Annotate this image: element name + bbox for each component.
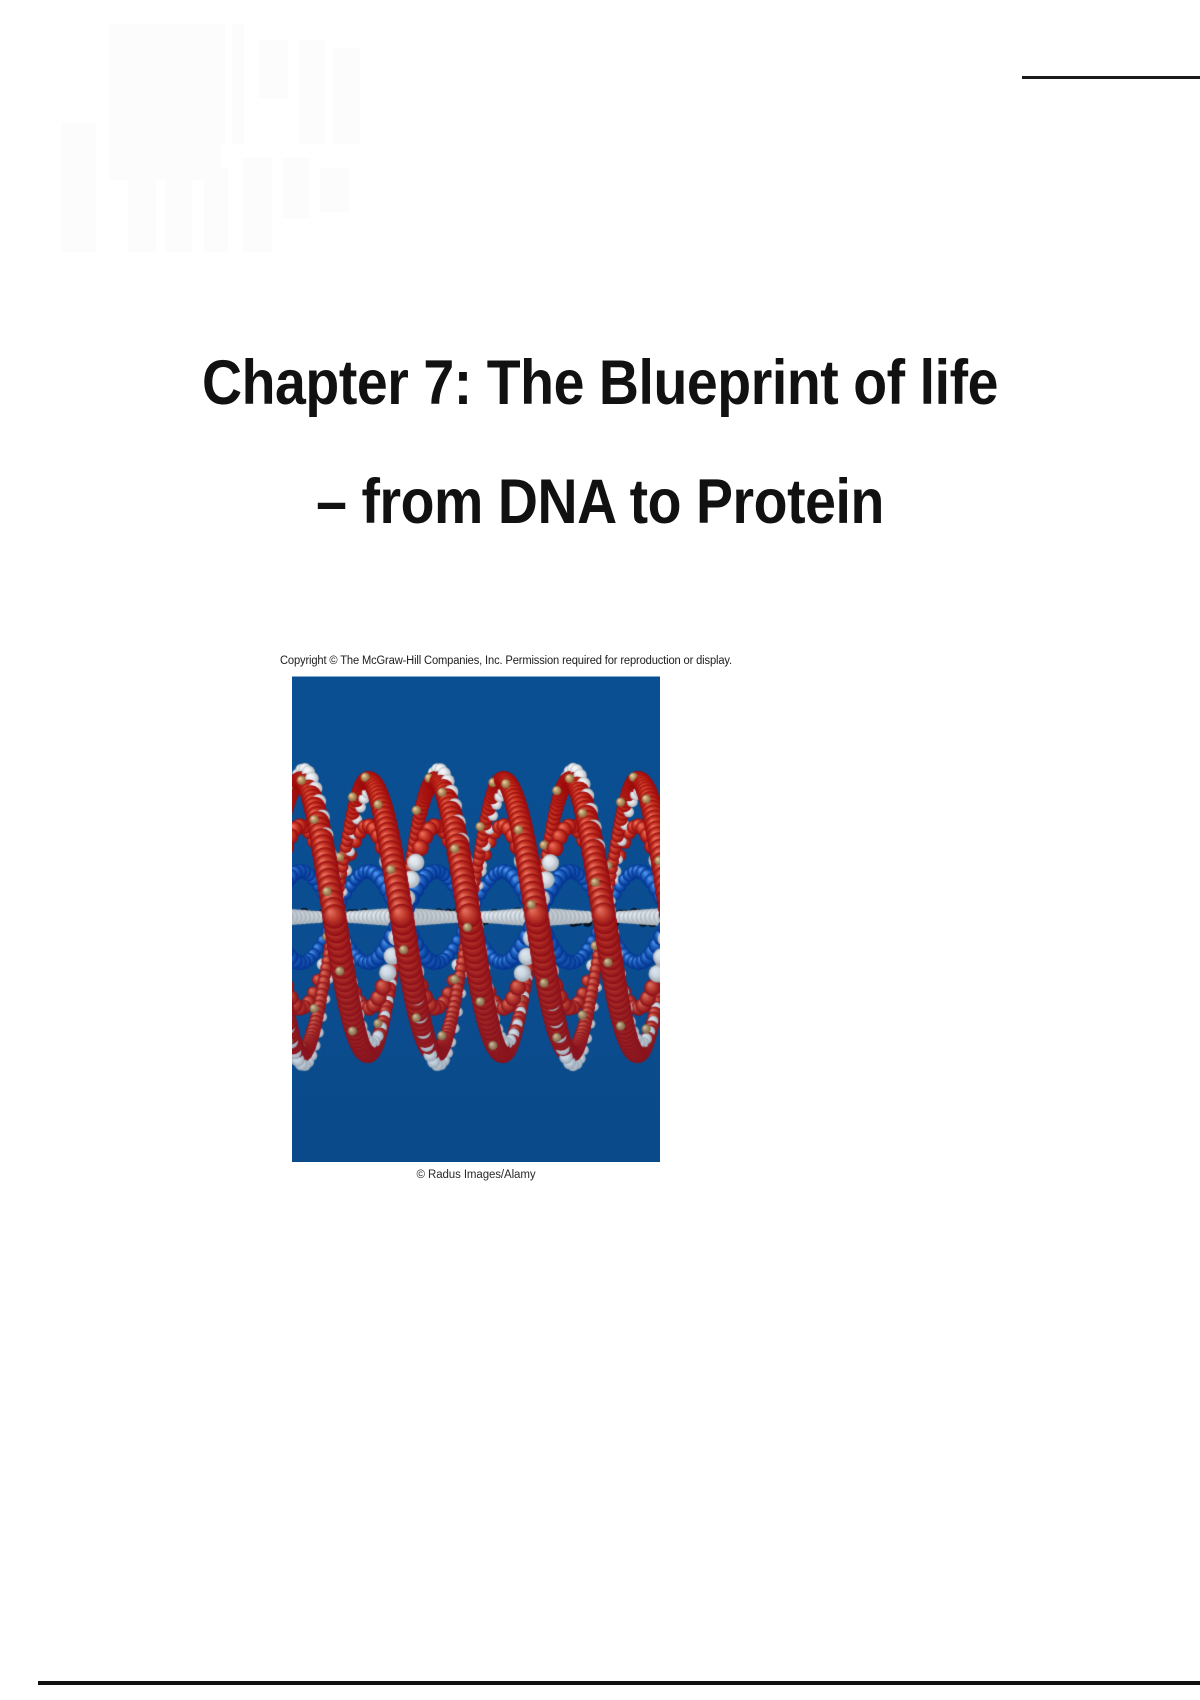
figure-block: Copyright © The McGraw-Hill Companies, I…	[272, 655, 672, 1181]
footer-rule	[38, 1681, 1200, 1685]
title-line-1: Chapter 7: The Blueprint of life	[72, 352, 1128, 415]
dna-illustration	[292, 677, 660, 1162]
figure-copyright-notice: Copyright © The McGraw-Hill Companies, I…	[280, 655, 660, 667]
page-title: Chapter 7: The Blueprint of life – from …	[0, 352, 1200, 534]
dna-double-helix-image	[292, 676, 660, 1162]
header-rule	[1022, 76, 1200, 79]
title-line-2: – from DNA to Protein	[72, 471, 1128, 534]
figure-caption: © Radus Images/Alamy	[292, 1169, 660, 1181]
background-watermark	[62, 18, 392, 253]
slide-page: Chapter 7: The Blueprint of life – from …	[0, 0, 1200, 1700]
